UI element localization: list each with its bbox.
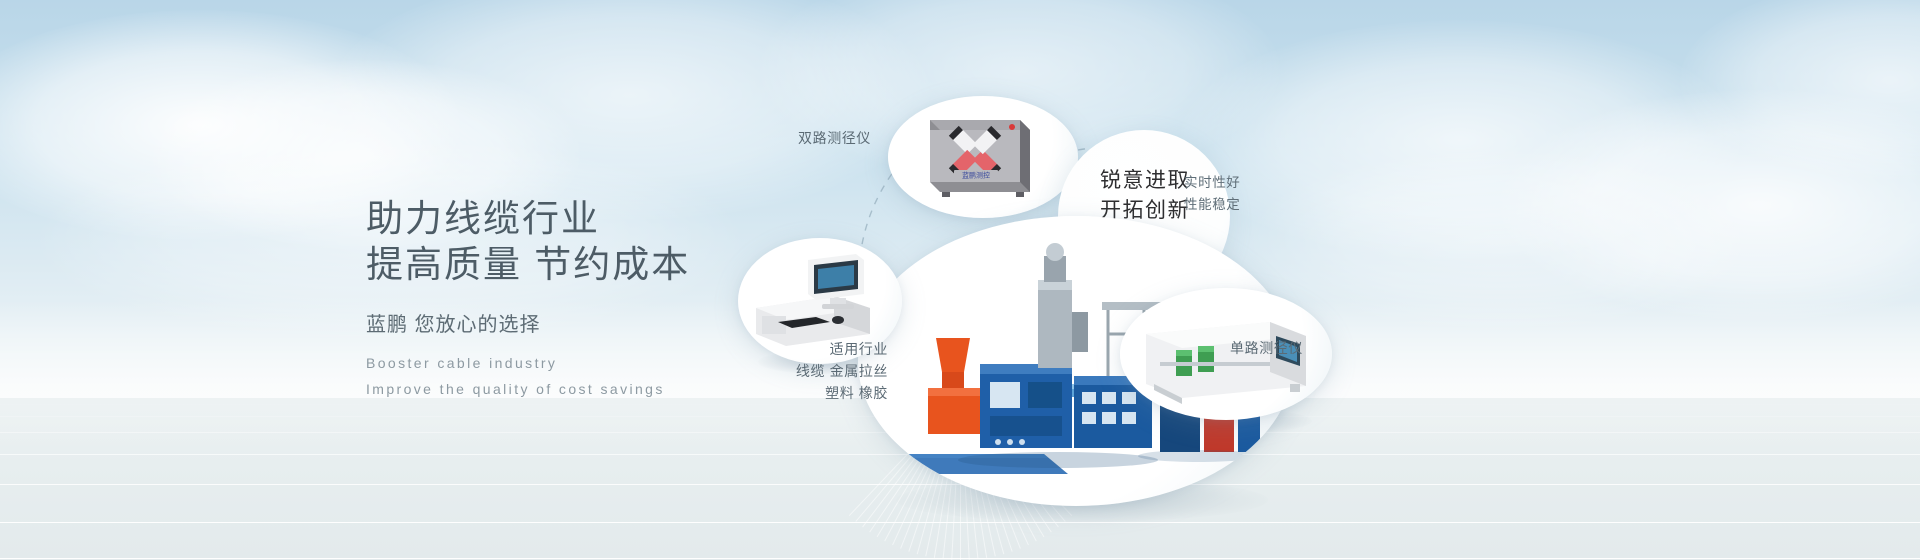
apply-line-2: 塑料 橡胶 [728,382,888,404]
feature-line-1: 实时性好 [1184,172,1240,194]
dual-gauge-bubble[interactable]: 蓝鹏测控 [888,96,1078,218]
product-composition: 蓝鹏测控 双路测径仪 锐意进取 开拓创新 实时性好 性能稳定 [700,0,1920,560]
apply-line-1: 线缆 金属拉丝 [728,360,888,382]
dual-gauge-label: 双路测径仪 [798,128,871,149]
feature-line-2: 性能稳定 [1184,194,1240,216]
applicable-industry-label: 适用行业 线缆 金属拉丝 塑料 橡胶 [728,338,888,404]
apply-title: 适用行业 [728,338,888,360]
hero-banner: 助力线缆行业 提高质量 节约成本 蓝鹏 您放心的选择 Booster cable… [0,0,1920,560]
single-gauge-label: 单路测径仪 [1230,338,1303,359]
dual-gauge-illustration: 蓝鹏测控 [888,96,1078,218]
feature-text: 实时性好 性能稳定 [1184,172,1240,216]
device-brand-mark: 蓝鹏测控 [962,171,990,180]
